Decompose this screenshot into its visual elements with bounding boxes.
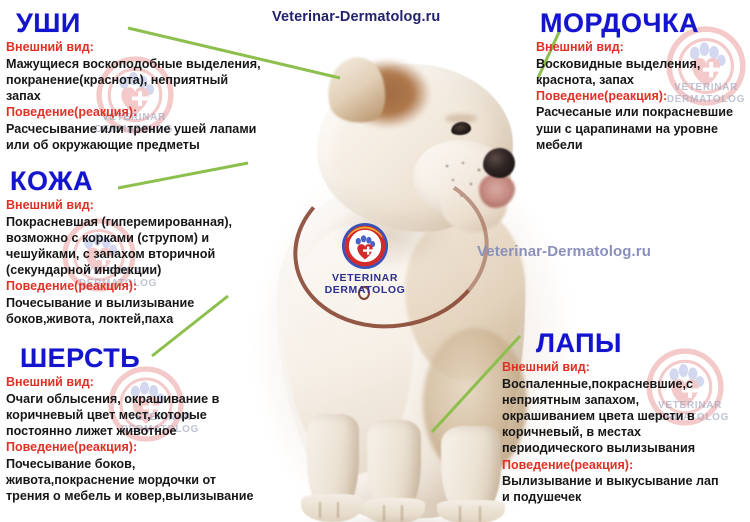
dog-front-right-leg [367, 420, 421, 520]
behaviour-line: живота,покраснение мордочки от [6, 472, 316, 488]
dog-head [317, 64, 513, 232]
dog-muzzle [413, 140, 511, 218]
dog-paw-front-right [363, 498, 425, 522]
appearance-line: Мажущиеся воскоподобные выделения, [6, 56, 306, 72]
behaviour-line: Почесывание боков, [6, 456, 316, 472]
label-appearance-skin: Внешний вид: [6, 198, 306, 214]
site-name-middle: Veterinar-Dermatolog.ru [477, 243, 651, 260]
behaviour-line: и подушечек [502, 489, 750, 505]
appearance-line: Очаги облысения, окрашивание в [6, 391, 316, 407]
label-appearance-muzzle: Внешний вид: [536, 40, 750, 56]
infographic-poster: VETERINAR DERMATOLOG VETERINAR DERMATOLO… [0, 0, 750, 522]
label-behaviour-skin: Поведение(реакция): [6, 279, 306, 295]
appearance-line: (секундарной инфекции) [6, 262, 306, 278]
section-title-ears: УШИ [16, 8, 306, 38]
appearance-line: коричневый, в местах [502, 424, 750, 440]
behaviour-line: Почесывание и вылизывание [6, 295, 306, 311]
dog-nose [483, 148, 515, 178]
appearance-line: Восковидные выделения, [536, 56, 750, 72]
appearance-line: окрашиванием цвета шерсти в [502, 408, 750, 424]
clinic-logo-caption: VETERINAR DERMATOLOG [300, 272, 430, 296]
dog-head-patch [341, 58, 437, 132]
label-appearance-coat: Внешний вид: [6, 375, 316, 391]
dog-eye [450, 121, 472, 137]
appearance-line: периодического вылизывания [502, 440, 750, 456]
behaviour-line: или об окружающие предметы [6, 137, 306, 153]
appearance-line: коричневый цвет мест, которые [6, 407, 316, 423]
label-appearance-ears: Внешний вид: [6, 40, 306, 56]
section-muzzle: МОРДОЧКА Внешний вид: Восковидные выделе… [534, 8, 750, 153]
appearance-line: краснота, запах [536, 72, 750, 88]
section-title-skin: КОЖА [10, 166, 306, 196]
label-appearance-paws: Внешний вид: [502, 360, 750, 376]
section-coat: ШЕРСТЬ Внешний вид: Очаги облысения, окр… [6, 343, 316, 504]
behaviour-line: Расчесывание или трение ушей лапами [6, 121, 306, 137]
label-behaviour-coat: Поведение(реакция): [6, 440, 316, 456]
appearance-line: покранение(краснота), неприятный [6, 72, 306, 88]
site-name-top: Veterinar-Dermatolog.ru [272, 9, 440, 25]
appearance-line: запах [6, 88, 306, 104]
appearance-line: Воспаленные,покрасневшие,с [502, 376, 750, 392]
appearance-line: постоянно лижет животное [6, 423, 316, 439]
section-skin: КОЖА Внешний вид: Покрасневшая (гипереми… [6, 166, 306, 327]
dog-brow [445, 114, 477, 123]
behaviour-line: трения о мебель и ковер,вылизывание [6, 488, 316, 504]
section-title-paws: ЛАПЫ [536, 328, 750, 358]
dog-lip [479, 174, 515, 208]
appearance-line: неприятным запахом, [502, 392, 750, 408]
appearance-line: Покрасневшая (гиперемированная), [6, 214, 306, 230]
label-behaviour-ears: Поведение(реакция): [6, 105, 306, 121]
section-ears: УШИ Внешний вид: Мажущиеся воскоподобные… [6, 8, 306, 153]
label-behaviour-paws: Поведение(реакция): [502, 458, 750, 474]
behaviour-line: уши с царапинами на уровне [536, 121, 750, 137]
behaviour-line: Вылизывание и выкусывание лап [502, 473, 750, 489]
behaviour-line: Расчесаные или покрасневшие [536, 104, 750, 120]
dog-hind-leg [441, 426, 501, 520]
section-title-muzzle: МОРДОЧКА [540, 8, 750, 38]
dog-collar [283, 157, 499, 341]
dog-ear [320, 52, 392, 130]
clinic-logo-line-1: VETERINAR [300, 272, 430, 284]
clinic-logo-pendant [341, 222, 389, 270]
section-title-coat: ШЕРСТЬ [20, 343, 316, 373]
appearance-line: чешуйками, с запахом вторичной [6, 246, 306, 262]
dog-jowl [441, 184, 507, 232]
dog-paw-hind [437, 500, 505, 522]
section-paws: ЛАПЫ Внешний вид: Воспаленные,покрасневш… [500, 328, 750, 505]
behaviour-line: боков,живота, локтей,паха [6, 311, 306, 327]
behaviour-line: мебели [536, 137, 750, 153]
appearance-line: возможно с корками (струпом) и [6, 230, 306, 246]
label-behaviour-muzzle: Поведение(реакция): [536, 89, 750, 105]
ground-shadow [275, 514, 525, 522]
dog-muzzle-spots [439, 158, 501, 204]
clinic-logo-line-2: DERMATOLOG [300, 284, 430, 296]
